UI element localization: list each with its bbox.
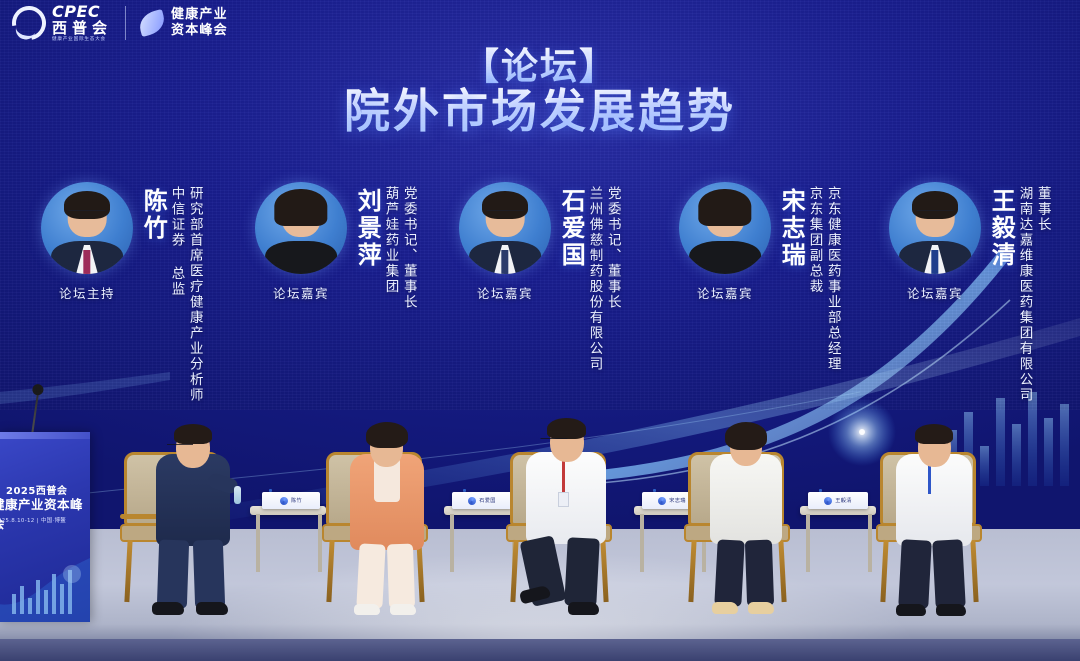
speaker-card-1: 论坛嘉宾 刘景萍 党委书记、董事长 葫芦娃药业集团	[248, 182, 417, 310]
avatar	[459, 182, 551, 274]
speaker-org-line-3-1: 京东健康医药事业部总经理	[823, 186, 840, 372]
nameplate-4: 王毅清	[808, 492, 868, 509]
speaker-card-3: 论坛嘉宾 宋志瑞 京东健康医药事业部总经理 京东集团副总裁	[672, 182, 841, 372]
podium-chart-graphic	[0, 550, 90, 622]
speaker-card-4: 论坛嘉宾 王毅清 董事长 湖南达嘉维康医药集团有限公司	[882, 182, 1051, 403]
podium-line3: 2025.8.10-12 | 中国·博鳌	[0, 516, 66, 524]
speaker-name-4: 王毅清	[988, 188, 1013, 269]
speaker-role-4: 论坛嘉宾	[907, 283, 963, 302]
speaker-org-line-1-1: 党委书记、董事长	[399, 186, 416, 310]
nameplate-logo-icon	[468, 497, 476, 505]
title-bracket-line: 【论坛】	[0, 46, 1080, 87]
avatar	[679, 182, 771, 274]
nameplate-text-2: 石爱国	[479, 497, 495, 504]
speaker-card-0: 论坛主持 陈竹 研究部首席医疗健康产业分析师 中信证券 总监	[34, 182, 203, 403]
header-logos: CPEC 西普会 健康产业国际生态大会 健康产业 资本峰会	[12, 4, 228, 42]
nameplate-0: 陈竹	[262, 492, 320, 509]
summit-line2: 资本峰会	[171, 24, 228, 39]
nameplate-logo-icon	[280, 497, 288, 505]
speaker-org-line-0-1: 研究部首席医疗健康产业分析师	[185, 186, 202, 403]
speaker-org-line-2-0: 兰州佛慈制药股份有限公司	[585, 186, 602, 372]
speaker-org-line-4-1: 董事长	[1033, 186, 1050, 403]
cpec-logo: CPEC 西普会 健康产业国际生态大会	[12, 4, 112, 42]
leaf-logo-icon	[139, 12, 165, 34]
speaker-org-line-3-0: 京东集团副总裁	[805, 186, 822, 372]
logo-divider	[125, 6, 126, 40]
podium-line2: 健康产业资本峰会	[0, 494, 90, 532]
cpec-cn-name: 西普会	[52, 21, 112, 37]
nameplate-text-0: 陈竹	[291, 497, 302, 504]
speaker-role-0: 论坛主持	[59, 283, 115, 302]
panelist-3	[702, 424, 822, 624]
speaker-org-line-2-1: 党委书记、董事长	[603, 186, 620, 372]
panelist-2	[522, 420, 642, 624]
summit-logo: 健康产业 资本峰会	[139, 8, 228, 39]
speaker-name-2: 石爱国	[558, 188, 583, 269]
forum-title: 【论坛】 院外市场发展趋势	[0, 46, 1080, 138]
cpec-ring-logo-icon	[5, 0, 52, 47]
speaker-list: 论坛主持 陈竹 研究部首席医疗健康产业分析师 中信证券 总监 论坛嘉宾 刘景萍 …	[0, 182, 1080, 432]
cpec-acronym: CPEC	[52, 4, 112, 20]
avatar	[41, 182, 133, 274]
speaker-card-2: 论坛嘉宾 石爱国 党委书记、董事长 兰州佛慈制药股份有限公司	[452, 182, 621, 372]
avatar	[255, 182, 347, 274]
avatar	[889, 182, 981, 274]
speaker-role-3: 论坛嘉宾	[697, 283, 753, 302]
nameplate-text-4: 王毅清	[835, 497, 851, 504]
podium-banner: 2025西普会 健康产业资本峰会 2025.8.10-12 | 中国·博鳌	[0, 432, 90, 622]
speaker-role-1: 论坛嘉宾	[273, 283, 329, 302]
stage-front-edge	[0, 639, 1080, 661]
title-main-line: 院外市场发展趋势	[0, 85, 1080, 138]
summit-line1: 健康产业	[171, 8, 228, 23]
panelist-1	[344, 424, 464, 624]
speaker-name-3: 宋志瑞	[778, 188, 803, 269]
conference-stage-photo: CPEC 西普会 健康产业国际生态大会 健康产业 资本峰会 【论坛】 院外市场发…	[0, 0, 1080, 661]
speaker-name-1: 刘景萍	[354, 188, 379, 269]
speaker-org-line-1-0: 葫芦娃药业集团	[381, 186, 398, 310]
panelist-4	[890, 424, 1010, 624]
speaker-org-line-4-0: 湖南达嘉维康医药集团有限公司	[1015, 186, 1032, 403]
speaker-org-line-0-0: 中信证券 总监	[167, 186, 184, 403]
cpec-tagline: 健康产业国际生态大会	[52, 38, 112, 43]
panelist-0	[150, 424, 270, 624]
nameplate-logo-icon	[824, 497, 832, 505]
nameplate-logo-icon	[658, 497, 666, 505]
speaker-role-2: 论坛嘉宾	[477, 283, 533, 302]
nameplate-2: 石爱国	[452, 492, 512, 509]
speaker-name-0: 陈竹	[140, 188, 165, 242]
